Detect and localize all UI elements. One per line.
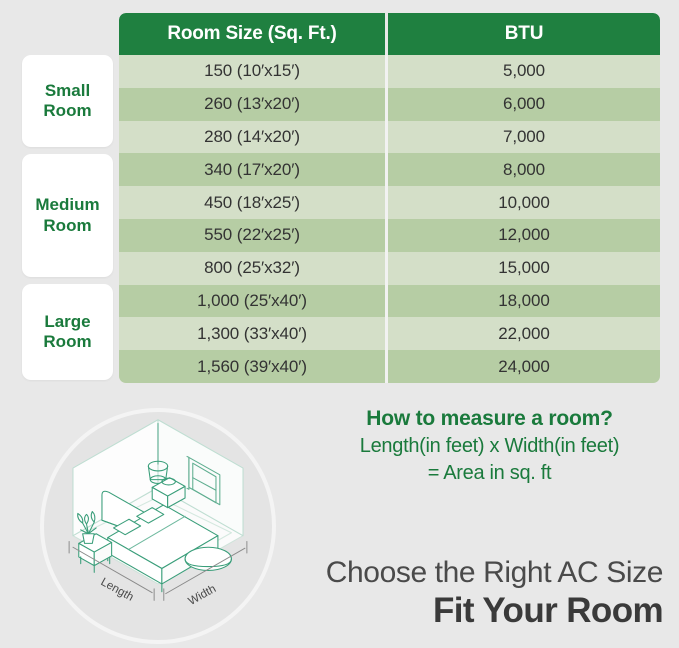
category-label-small: Small Room — [43, 81, 91, 121]
category-line1: Small — [45, 81, 90, 100]
table-row: 280 (14′x20′)7,000 — [119, 121, 660, 154]
headline-top: Choose the Right AC Size — [0, 556, 663, 591]
measure-formula-line1: Length(in feet) x Width(in feet) — [300, 433, 679, 460]
table-row: 450 (18′x25′)10,000 — [119, 186, 660, 219]
table-row: 150 (10′x15′)5,000 — [119, 55, 660, 88]
measure-heading: How to measure a room? — [300, 405, 679, 433]
category-line1: Large — [44, 312, 90, 331]
cell-room-size: 550 (22′x25′) — [119, 219, 385, 252]
cell-btu: 15,000 — [388, 252, 660, 285]
cell-btu: 22,000 — [388, 317, 660, 350]
cell-btu: 6,000 — [388, 88, 660, 121]
cell-btu: 10,000 — [388, 186, 660, 219]
cell-room-size: 1,000 (25′x40′) — [119, 285, 385, 318]
category-line2: Room — [43, 101, 91, 120]
table-row: 550 (22′x25′)12,000 — [119, 219, 660, 252]
headline-block: Choose the Right AC Size Fit Your Room — [0, 556, 663, 631]
cell-room-size: 280 (14′x20′) — [119, 121, 385, 154]
column-header-btu: BTU — [388, 13, 660, 55]
table-row: 340 (17′x20′)8,000 — [119, 153, 660, 186]
table-row: 1,000 (25′x40′)18,000 — [119, 285, 660, 318]
btu-table: Room Size (Sq. Ft.) BTU 150 (10′x15′)5,0… — [119, 13, 660, 383]
measure-instructions: How to measure a room? Length(in feet) x… — [300, 405, 679, 487]
cell-btu: 8,000 — [388, 153, 660, 186]
cell-room-size: 150 (10′x15′) — [119, 55, 385, 88]
table-row: 1,560 (39′x40′)24,000 — [119, 350, 660, 383]
table-row: 1,300 (33′x40′)22,000 — [119, 317, 660, 350]
cell-btu: 24,000 — [388, 350, 660, 383]
table-row: 800 (25′x32′)15,000 — [119, 252, 660, 285]
category-line2: Room — [43, 216, 91, 235]
category-card-large-room: Large Room — [22, 284, 113, 380]
headline-bottom: Fit Your Room — [0, 591, 663, 631]
category-card-small-room: Small Room — [22, 55, 113, 147]
measure-formula-line2: = Area in sq. ft — [300, 460, 679, 487]
cell-room-size: 450 (18′x25′) — [119, 186, 385, 219]
column-header-room-size: Room Size (Sq. Ft.) — [119, 13, 385, 55]
category-card-medium-room: Medium Room — [22, 154, 113, 277]
category-line1: Medium — [35, 195, 99, 214]
category-label-large: Large Room — [43, 312, 91, 352]
infographic-root: Room Size (Sq. Ft.) BTU 150 (10′x15′)5,0… — [0, 0, 679, 648]
category-label-medium: Medium Room — [35, 195, 99, 235]
table-row: 260 (13′x20′)6,000 — [119, 88, 660, 121]
cell-room-size: 800 (25′x32′) — [119, 252, 385, 285]
cell-btu: 12,000 — [388, 219, 660, 252]
table-body: 150 (10′x15′)5,000260 (13′x20′)6,000280 … — [119, 55, 660, 383]
table-header-row: Room Size (Sq. Ft.) BTU — [119, 13, 660, 55]
cell-room-size: 1,560 (39′x40′) — [119, 350, 385, 383]
category-line2: Room — [43, 332, 91, 351]
cell-btu: 7,000 — [388, 121, 660, 154]
cell-room-size: 1,300 (33′x40′) — [119, 317, 385, 350]
cell-btu: 5,000 — [388, 55, 660, 88]
cell-btu: 18,000 — [388, 285, 660, 318]
cell-room-size: 340 (17′x20′) — [119, 153, 385, 186]
cell-room-size: 260 (13′x20′) — [119, 88, 385, 121]
